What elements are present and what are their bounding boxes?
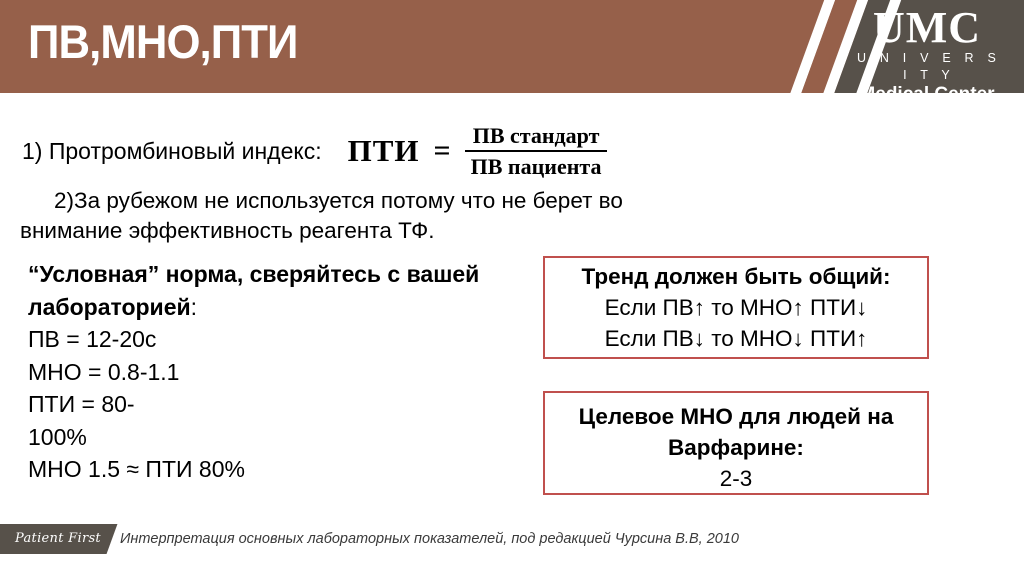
norms-heading: “Условная” норма, сверяйтесь с вашей лаб… (28, 258, 508, 323)
formula-label: 1) Протромбиновый индекс: (22, 138, 322, 165)
umc-logo-university: U N I V E R S I T Y (852, 50, 1002, 84)
footer-banner-text: Patient First (10, 528, 106, 550)
formula-numerator: ПВ стандарт (465, 122, 608, 152)
trend-box-title: Тренд должен быть общий: (545, 261, 927, 292)
slide-title: ПВ,МНО,ПТИ (28, 14, 297, 69)
reference-norms-block: “Условная” норма, сверяйтесь с вашей лаб… (28, 258, 508, 486)
umc-logo: UMC U N I V E R S I T Y Medical Center Ғ… (852, 6, 1002, 93)
umc-logo-acronym: UMC (852, 6, 1002, 50)
norms-heading-colon: : (191, 294, 197, 320)
formula-left-term: ПТИ (348, 133, 420, 169)
intro-paragraph: 2)За рубежом не используется потому что … (20, 186, 710, 246)
prothrombin-index-formula-row: 1) Протромбиновый индекс: ПТИ = ПВ станд… (22, 122, 607, 180)
formula-equals-sign: = (434, 134, 451, 168)
norms-heading-text: “Условная” норма, сверяйтесь с вашей лаб… (28, 261, 479, 320)
norms-line: МНО = 0.8-1.1 (28, 356, 508, 389)
footer-citation: Интерпретация основных лабораторных пока… (120, 531, 739, 547)
warfarin-box-title-line1: Целевое МНО для людей на (545, 401, 927, 432)
formula-denominator: ПВ пациента (465, 152, 608, 180)
trend-box-line: Если ПВ↑ то МНО↑ ПТИ↓ (545, 292, 927, 323)
norms-line: ПТИ = 80- (28, 388, 508, 421)
trend-callout-box: Тренд должен быть общий: Если ПВ↑ то МНО… (543, 256, 929, 359)
pti-formula: ПТИ = ПВ стандарт ПВ пациента (348, 122, 608, 180)
warfarin-box-title-line2: Варфарине: (545, 432, 927, 463)
norms-line: 100% (28, 421, 508, 454)
formula-fraction: ПВ стандарт ПВ пациента (465, 122, 608, 180)
trend-box-line: Если ПВ↓ то МНО↓ ПТИ↑ (545, 323, 927, 354)
slide-header: ПВ,МНО,ПТИ UMC U N I V E R S I T Y Medic… (0, 0, 1024, 93)
warfarin-box-value: 2-3 (545, 463, 927, 494)
norms-line: ПВ = 12-20с (28, 323, 508, 356)
warfarin-target-callout-box: Целевое МНО для людей на Варфарине: 2-3 (543, 391, 929, 495)
umc-logo-medical-center: Medical Center (852, 84, 1002, 93)
norms-line: МНО 1.5 ≈ ПТИ 80% (28, 453, 508, 486)
